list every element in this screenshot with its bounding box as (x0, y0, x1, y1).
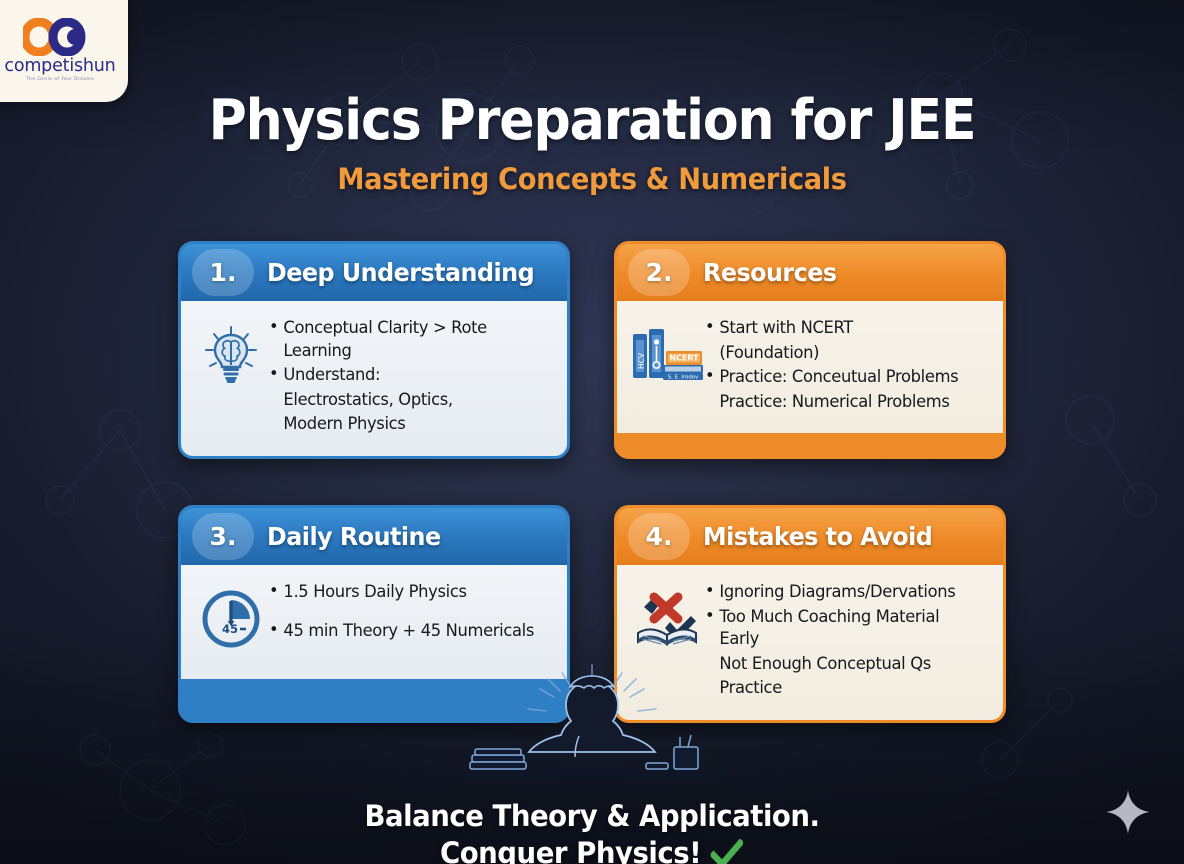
list-item: Practice: Numerical Problems (705, 391, 958, 414)
card-daily-routine[interactable]: 3. Daily Routine 45 1.5 Hours Daily Phys… (178, 505, 570, 723)
brand-logo-badge[interactable]: competishun The Genie of Your Dreams (0, 0, 128, 102)
list-item: Practice: Conceutual Problems (705, 366, 958, 389)
card-number-badge: 4. (628, 513, 690, 560)
card-icon-slot (629, 581, 705, 653)
card-number-badge: 2. (628, 249, 690, 296)
title-block: Physics Preparation for JEE Mastering Co… (0, 92, 1184, 196)
card-bullet-list: 1.5 Hours Daily Physics 45 min Theory + … (269, 581, 534, 644)
card-bullet-list: Conceptual Clarity > Rote Learning Under… (269, 317, 542, 438)
clock-label: 45 (222, 622, 238, 636)
card-number-badge: 3. (192, 513, 254, 560)
card-body: Ignoring Diagrams/Dervations Too Much Co… (617, 565, 1003, 720)
brand-name: competishun (4, 58, 115, 76)
cards-grid: 1. Deep Understanding (178, 241, 1006, 723)
list-item: 1.5 Hours Daily Physics (269, 581, 534, 604)
list-item: Understand: (269, 364, 542, 387)
page-subtitle: Mastering Concepts & Numericals (36, 162, 1149, 196)
card-header: 1. Deep Understanding (181, 244, 567, 301)
card-mistakes-to-avoid[interactable]: 4. Mistakes to Avoid (614, 505, 1006, 723)
card-header: 4. Mistakes to Avoid (617, 508, 1003, 565)
footer-block: Balance Theory & Application. Conquer Ph… (0, 798, 1184, 864)
card-number-badge: 1. (192, 249, 254, 296)
card-body: HCV NCERT S. E. Irodov (617, 301, 1003, 433)
card-icon-slot: 45 (193, 581, 269, 649)
card-body: 45 1.5 Hours Daily Physics 45 min Theory… (181, 565, 567, 679)
infographic-canvas: competishun The Genie of Your Dreams Phy… (0, 0, 1184, 864)
list-item: 45 min Theory + 45 Numericals (269, 620, 534, 643)
green-check-icon (711, 839, 743, 864)
lightbulb-brain-icon (202, 325, 260, 387)
card-header: 2. Resources (617, 244, 1003, 301)
clock-45-icon: 45 (201, 589, 261, 649)
footer-line-1: Balance Theory & Application. (30, 798, 1155, 835)
svg-text:HCV: HCV (637, 352, 646, 369)
card-bullet-list: Start with NCERT (Foundation) Practice: … (705, 317, 958, 415)
card-body: Conceptual Clarity > Rote Learning Under… (181, 301, 567, 456)
list-item: Modern Physics (269, 413, 542, 436)
card-header: 3. Daily Routine (181, 508, 567, 565)
list-item: Conceptual Clarity > Rote Learning (269, 317, 542, 362)
list-item: Practice (705, 677, 978, 700)
card-title: Daily Routine (267, 522, 441, 551)
svg-text:NCERT: NCERT (669, 354, 699, 363)
card-bullet-list: Ignoring Diagrams/Dervations Too Much Co… (705, 581, 978, 702)
list-item: Electrostatics, Optics, (269, 389, 542, 412)
card-resources[interactable]: 2. Resources HCV (614, 241, 1006, 459)
infinity-logo-icon (23, 18, 97, 56)
list-item: (Foundation) (705, 342, 958, 365)
card-title: Resources (703, 258, 837, 287)
footer-line-2-wrap: Conquer Physics! (440, 835, 743, 864)
svg-text:S. E. Irodov: S. E. Irodov (668, 374, 699, 380)
cross-book-check-icon (634, 589, 700, 653)
stack-of-books-icon: HCV NCERT S. E. Irodov (630, 325, 704, 383)
card-deep-understanding[interactable]: 1. Deep Understanding (178, 241, 570, 459)
four-point-star-icon (1104, 789, 1152, 837)
list-item: Start with NCERT (705, 317, 958, 340)
brand-tagline: The Genie of Your Dreams (26, 77, 94, 82)
footer-line-2: Conquer Physics! (440, 835, 701, 864)
list-item: Not Enough Conceptual Qs (705, 653, 978, 676)
page-title: Physics Preparation for JEE (41, 92, 1142, 149)
card-icon-slot: HCV NCERT S. E. Irodov (629, 317, 705, 383)
list-item: Ignoring Diagrams/Dervations (705, 581, 978, 604)
card-title: Deep Understanding (267, 258, 534, 287)
card-icon-slot (193, 317, 269, 387)
card-title: Mistakes to Avoid (703, 522, 932, 551)
list-item: Too Much Coaching Material Early (705, 606, 978, 651)
